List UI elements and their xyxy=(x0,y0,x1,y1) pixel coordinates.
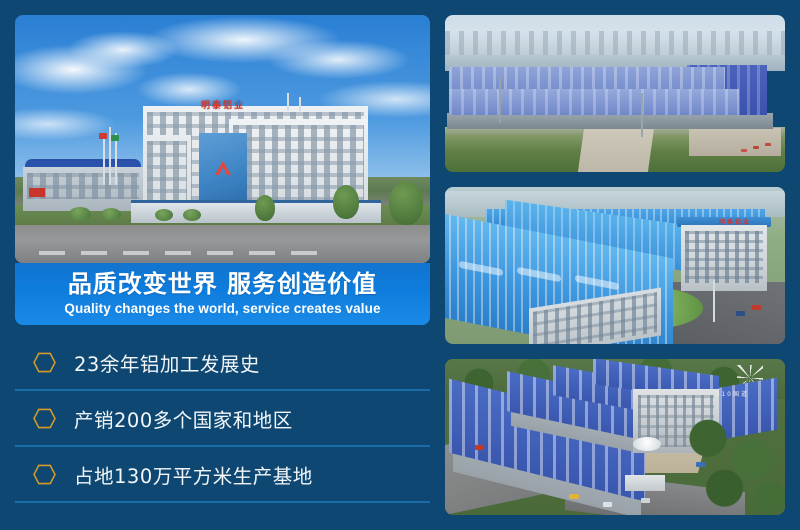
entrance-gatehouse xyxy=(625,475,665,491)
feature-label: 占地130万平方米生产基地 xyxy=(74,460,313,489)
feature-label: 产销200多个国家和地区 xyxy=(74,404,293,433)
feature-item[interactable]: 23余年铝加工发展史 xyxy=(15,335,430,391)
plant-roof-front xyxy=(449,89,739,115)
shrub xyxy=(69,207,91,221)
road xyxy=(15,225,430,263)
slogan-banner: 品质改变世界 服务创造价值 Quality changes the world,… xyxy=(15,263,430,325)
office-windows xyxy=(685,231,763,283)
hexagon-icon xyxy=(33,352,56,373)
left-column: 明泰铝业 品质改变世界 服务创造价值 Quality c xyxy=(15,15,430,515)
slogan-english: Quality changes the world, service creat… xyxy=(64,301,380,316)
highway-sign-text: 310国道 xyxy=(716,389,749,398)
feature-item[interactable]: 产销200多个国家和地区 xyxy=(15,391,430,447)
hexagon-icon xyxy=(33,408,56,429)
promo-banner-page: 明泰铝业 品质改变世界 服务创造价值 Quality c xyxy=(0,0,800,530)
vehicle xyxy=(569,494,579,499)
hexagon-icon xyxy=(33,464,56,485)
flag-red xyxy=(99,133,107,139)
road-marking xyxy=(165,251,191,255)
gallery-photo-blue-roof-complex: 明泰铝业 xyxy=(445,187,785,344)
left-wing-windows xyxy=(147,141,187,207)
tree xyxy=(255,195,275,221)
side-factory-red-sign xyxy=(29,188,45,197)
power-pylon xyxy=(499,77,501,123)
plaza-fountain xyxy=(633,437,661,451)
road-marking xyxy=(81,251,107,255)
right-column: 明泰铝业 xyxy=(445,15,785,515)
parked-car xyxy=(741,149,747,152)
shrub xyxy=(183,209,201,221)
light-pole xyxy=(713,280,715,322)
feature-label: 23余年铝加工发展史 xyxy=(74,348,260,377)
parked-vehicle xyxy=(752,305,761,310)
shrub xyxy=(101,208,121,221)
parked-car xyxy=(765,143,771,146)
flag-mast xyxy=(103,133,105,185)
gallery-photo-aerial-factory xyxy=(445,15,785,172)
building-sign-text: 明泰铝业 xyxy=(201,98,245,111)
parked-vehicle xyxy=(736,311,745,316)
tree xyxy=(389,181,423,225)
road-marking xyxy=(207,251,233,255)
foreground-trees xyxy=(675,419,785,515)
flag-green xyxy=(111,135,119,141)
slogan-chinese: 品质改变世界 服务创造价值 xyxy=(68,272,377,297)
power-pylon xyxy=(641,93,643,137)
office-tower xyxy=(681,225,767,291)
road-marking xyxy=(249,251,275,255)
shrub xyxy=(155,209,173,221)
vehicle xyxy=(603,502,612,507)
parked-car xyxy=(753,146,759,149)
plant-facade xyxy=(447,113,773,129)
parking-lot xyxy=(689,128,781,156)
road-marking xyxy=(39,251,65,255)
vehicle xyxy=(641,498,650,503)
gallery-render-industrial-park: 310国道 xyxy=(445,359,785,515)
rooftop-antenna xyxy=(299,97,301,111)
glass-atrium xyxy=(199,133,247,207)
road-marking xyxy=(123,251,149,255)
hero-photo: 明泰铝业 xyxy=(15,15,430,263)
vehicle xyxy=(696,462,705,467)
feature-list: 23余年铝加工发展史 产销200多个国家和地区 占地130万平方米生产基地 xyxy=(15,335,430,503)
tree xyxy=(333,185,359,219)
office-sign-text: 明泰铝业 xyxy=(719,217,751,226)
vehicle xyxy=(475,445,484,450)
road-marking xyxy=(291,251,317,255)
feature-item[interactable]: 占地130万平方米生产基地 xyxy=(15,447,430,503)
rooftop-antenna xyxy=(287,93,289,111)
